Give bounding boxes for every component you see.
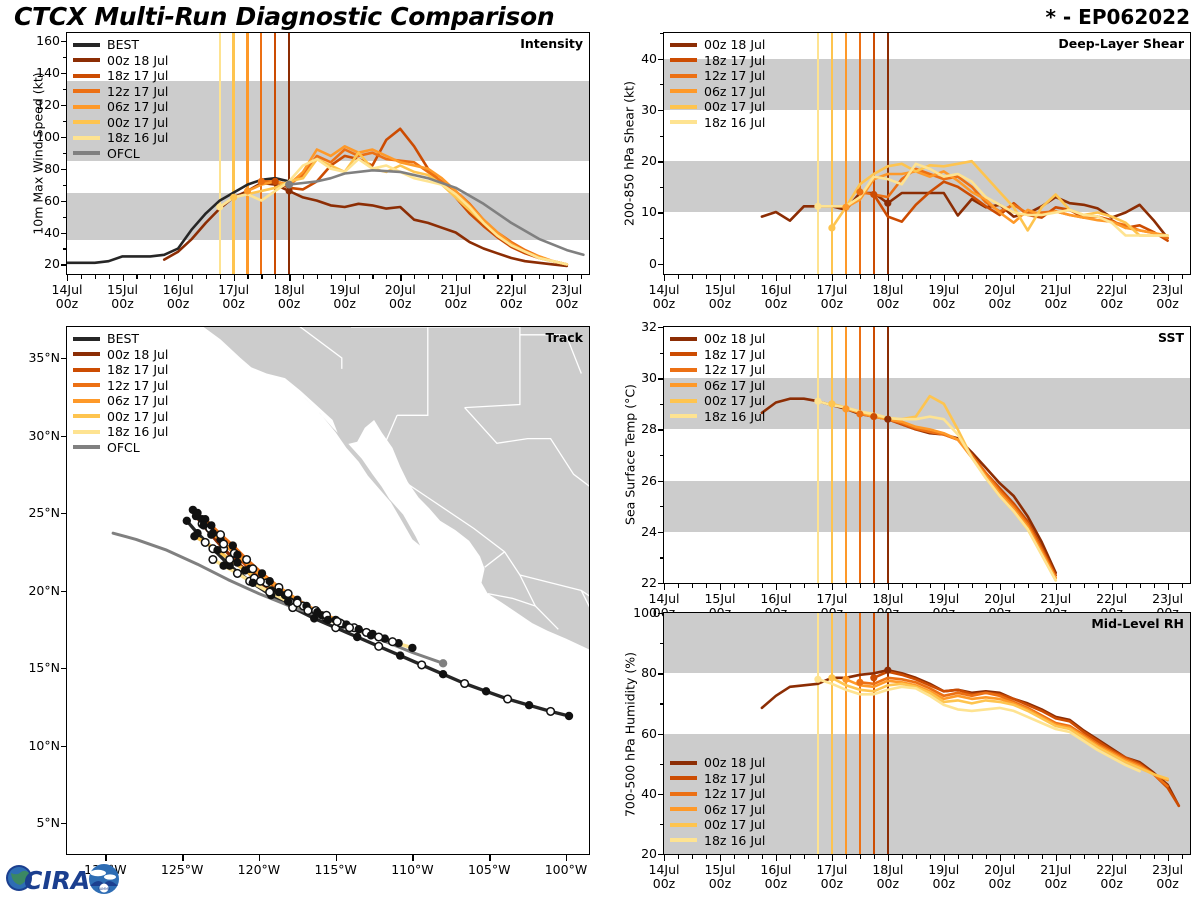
y-tick-label: 20	[613, 846, 657, 861]
x-tick-mark	[944, 855, 945, 861]
sst-panel-title: SST	[1158, 330, 1184, 345]
x-minor-tick	[1126, 855, 1127, 859]
data-series-line	[248, 146, 567, 264]
x-tick-mark	[720, 275, 721, 281]
x-tick-mark	[289, 275, 290, 281]
legend-swatch-icon	[73, 399, 100, 403]
legend-label: 12z 17 Jul	[107, 379, 168, 392]
legend-swatch-icon	[73, 445, 100, 449]
ofcl-start-marker	[439, 659, 447, 667]
legend-swatch-icon	[73, 136, 100, 140]
x-tick-label: 22Jul00z	[1082, 283, 1142, 311]
y-tick-label: 22	[613, 575, 657, 590]
x-minor-tick	[818, 584, 819, 588]
legend-entry: 18z 16 Jul	[670, 833, 765, 849]
track-point-open	[294, 599, 302, 607]
legend-entry: OFCL	[73, 440, 168, 456]
track-point-filled	[193, 509, 201, 517]
x-minor-tick	[790, 584, 791, 588]
x-minor-tick	[734, 275, 735, 279]
x-minor-tick	[1140, 584, 1141, 588]
track-y-tick-mark	[61, 823, 67, 824]
y-minor-tick	[660, 33, 664, 34]
legend-swatch-icon	[670, 74, 697, 78]
track-point-filled	[565, 712, 573, 720]
x-minor-tick	[1014, 855, 1015, 859]
y-tick-mark	[61, 73, 67, 74]
legend-entry: 12z 17 Jul	[670, 362, 765, 378]
y-tick-mark	[61, 41, 67, 42]
x-minor-tick	[1084, 275, 1085, 279]
legend-label: 00z 17 Jul	[704, 818, 765, 831]
track-point-filled	[482, 687, 490, 695]
y-tick-label: 26	[613, 473, 657, 488]
track-point-open	[266, 588, 274, 596]
track-x-tick-mark	[259, 855, 260, 861]
legend-swatch-icon	[670, 58, 697, 62]
x-minor-tick	[846, 275, 847, 279]
x-minor-tick	[1028, 584, 1029, 588]
x-minor-tick	[359, 275, 360, 279]
x-tick-mark	[400, 275, 401, 281]
x-tick-mark	[776, 275, 777, 281]
x-minor-tick	[916, 275, 917, 279]
y-tick-mark	[61, 233, 67, 234]
x-minor-tick	[1126, 275, 1127, 279]
x-minor-tick	[261, 275, 262, 279]
x-minor-tick	[692, 855, 693, 859]
x-minor-tick	[748, 855, 749, 859]
legend-label: 18z 17 Jul	[107, 69, 168, 82]
x-minor-tick	[1140, 855, 1141, 859]
x-tick-label: 15Jul00z	[93, 283, 153, 311]
x-tick-label: 23Jul00z	[537, 283, 597, 311]
legend-entry: 18z 17 Jul	[73, 362, 168, 378]
y-tick-label: 60	[16, 193, 60, 208]
y-tick-label: 100	[613, 605, 657, 620]
page-title: CTCX Multi-Run Diagnostic Comparison	[14, 2, 554, 31]
y-tick-label: 80	[613, 665, 657, 680]
init-point-marker	[814, 676, 821, 683]
x-minor-tick	[874, 855, 875, 859]
x-minor-tick	[916, 584, 917, 588]
legend-label: 18z 16 Jul	[704, 834, 765, 847]
x-tick-mark	[567, 275, 568, 281]
legend-label: 18z 17 Jul	[704, 772, 765, 785]
x-minor-tick	[1042, 584, 1043, 588]
x-tick-label: 22Jul00z	[1082, 863, 1142, 891]
y-tick-label: 30	[613, 370, 657, 385]
x-tick-label: 16Jul00z	[746, 863, 806, 891]
x-minor-tick	[804, 855, 805, 859]
track-point-filled	[233, 558, 241, 566]
x-minor-tick	[874, 584, 875, 588]
track-y-tick-mark	[61, 436, 67, 437]
track-x-tick-mark	[182, 855, 183, 861]
y-tick-label: 140	[16, 65, 60, 80]
legend-entry: 18z 17 Jul	[73, 68, 168, 84]
x-tick-mark	[511, 275, 512, 281]
x-minor-tick	[1126, 584, 1127, 588]
track-point-filled	[266, 577, 274, 585]
x-minor-tick	[790, 275, 791, 279]
x-tick-label: 19Jul00z	[315, 283, 375, 311]
x-tick-label: 17Jul00z	[802, 863, 862, 891]
x-tick-label: 23Jul00z	[1138, 283, 1198, 311]
cira-logo-graphic: CIRA RAMMB	[4, 858, 126, 898]
x-tick-mark	[1000, 275, 1001, 281]
legend-entry: 06z 17 Jul	[670, 378, 765, 394]
x-minor-tick	[678, 275, 679, 279]
legend-entry: 18z 17 Jul	[670, 347, 765, 363]
x-tick-mark	[832, 275, 833, 281]
x-minor-tick	[331, 275, 332, 279]
x-minor-tick	[1182, 275, 1183, 279]
legend-swatch-icon	[73, 352, 100, 356]
intensity-y-axis-label: 10m Max Wind Speed (kt)	[31, 54, 46, 254]
track-y-tick-label: 25°N	[8, 505, 60, 520]
init-point-marker	[814, 203, 821, 210]
track-point-filled	[209, 529, 217, 537]
y-tick-label: 32	[613, 319, 657, 334]
track-point-filled	[284, 597, 292, 605]
x-minor-tick	[692, 275, 693, 279]
track-y-tick-label: 30°N	[8, 428, 60, 443]
legend-swatch-icon	[73, 43, 100, 47]
x-tick-mark	[664, 275, 665, 281]
track-x-tick-mark	[489, 855, 490, 861]
x-minor-tick	[902, 855, 903, 859]
x-tick-mark	[456, 275, 457, 281]
x-minor-tick	[818, 275, 819, 279]
y-minor-tick	[63, 153, 67, 154]
track-point-filled	[324, 616, 332, 624]
legend-swatch-icon	[73, 337, 100, 341]
x-tick-label: 14Jul00z	[37, 283, 97, 311]
svg-text:RAMMB: RAMMB	[98, 887, 111, 891]
legend-entry: 12z 17 Jul	[73, 378, 168, 394]
x-minor-tick	[428, 275, 429, 279]
ofcl-start-marker	[285, 181, 293, 189]
x-minor-tick	[902, 275, 903, 279]
x-tick-mark	[1112, 584, 1113, 590]
y-tick-mark	[658, 532, 664, 533]
init-point-marker	[244, 187, 251, 194]
legend-label: 00z 17 Jul	[107, 410, 168, 423]
x-minor-tick	[150, 275, 151, 279]
y-tick-mark	[658, 59, 664, 60]
x-minor-tick	[986, 855, 987, 859]
y-tick-mark	[658, 794, 664, 795]
init-point-marker	[842, 676, 849, 683]
track-point-filled	[233, 551, 241, 559]
legend-label: 00z 18 Jul	[107, 54, 168, 67]
track-point-filled	[275, 588, 283, 596]
x-tick-mark	[1056, 275, 1057, 281]
legend-entry: 00z 18 Jul	[670, 37, 765, 53]
legend-swatch-icon	[73, 105, 100, 109]
legend-swatch-icon	[73, 89, 100, 93]
legend-label: 12z 17 Jul	[704, 69, 765, 82]
legend-swatch-icon	[670, 120, 697, 124]
x-minor-tick	[497, 275, 498, 279]
y-minor-tick	[63, 121, 67, 122]
x-minor-tick	[692, 584, 693, 588]
intensity-legend: BEST00z 18 Jul18z 17 Jul12z 17 Jul06z 17…	[73, 37, 168, 161]
x-minor-tick	[1154, 584, 1155, 588]
track-y-tick-mark	[61, 668, 67, 669]
x-minor-tick	[748, 275, 749, 279]
track-x-tick-label: 120°W	[224, 863, 294, 877]
x-minor-tick	[972, 855, 973, 859]
x-minor-tick	[1084, 584, 1085, 588]
data-series-line	[818, 401, 1056, 580]
y-tick-label: 40	[613, 51, 657, 66]
init-point-marker	[272, 178, 279, 185]
y-tick-label: 24	[613, 524, 657, 539]
x-minor-tick	[1042, 855, 1043, 859]
legend-swatch-icon	[73, 120, 100, 124]
track-point-filled	[219, 562, 227, 570]
y-tick-mark	[658, 613, 664, 614]
y-tick-mark	[658, 327, 664, 328]
y-tick-label: 120	[16, 97, 60, 112]
data-series-line	[762, 670, 1179, 806]
y-tick-label: 40	[613, 786, 657, 801]
track-panel-title: Track	[546, 330, 583, 345]
x-minor-tick	[762, 584, 763, 588]
data-series-line	[846, 679, 1168, 780]
x-minor-tick	[986, 275, 987, 279]
x-tick-mark	[776, 855, 777, 861]
x-tick-label: 17Jul00z	[802, 283, 862, 311]
init-point-marker	[884, 200, 891, 207]
y-minor-tick	[660, 824, 664, 825]
x-minor-tick	[1028, 275, 1029, 279]
track-point-open	[201, 539, 209, 547]
y-tick-mark	[658, 429, 664, 430]
legend-label: BEST	[107, 332, 139, 345]
track-point-filled	[229, 541, 237, 549]
legend-label: OFCL	[107, 441, 140, 454]
track-point-open	[418, 661, 426, 669]
y-tick-mark	[61, 169, 67, 170]
data-series-line	[860, 678, 1168, 786]
y-tick-label: 20	[16, 256, 60, 271]
track-point-filled	[525, 701, 533, 709]
track-point-filled	[199, 521, 207, 529]
x-minor-tick	[860, 584, 861, 588]
x-minor-tick	[164, 275, 165, 279]
x-minor-tick	[972, 275, 973, 279]
legend-entry: BEST	[73, 37, 168, 53]
x-minor-tick	[247, 275, 248, 279]
y-minor-tick	[660, 506, 664, 507]
x-minor-tick	[706, 584, 707, 588]
y-minor-tick	[660, 643, 664, 644]
track-point-open	[234, 570, 242, 578]
x-minor-tick	[958, 275, 959, 279]
track-point-filled	[183, 517, 191, 525]
x-minor-tick	[930, 584, 931, 588]
x-tick-label: 15Jul00z	[690, 863, 750, 891]
x-tick-label: 21Jul00z	[426, 283, 486, 311]
x-tick-label: 18Jul00z	[858, 283, 918, 311]
x-minor-tick	[1182, 855, 1183, 859]
y-tick-label: 0	[613, 256, 657, 271]
legend-entry: 06z 17 Jul	[670, 802, 765, 818]
legend-swatch-icon	[670, 352, 697, 356]
sst-legend: 00z 18 Jul18z 17 Jul12z 17 Jul06z 17 Jul…	[670, 331, 765, 424]
track-x-tick-label: 125°W	[147, 863, 217, 877]
x-tick-mark	[1168, 584, 1169, 590]
y-tick-mark	[658, 481, 664, 482]
init-point-marker	[870, 191, 877, 198]
y-minor-tick	[63, 248, 67, 249]
x-minor-tick	[678, 584, 679, 588]
x-minor-tick	[136, 275, 137, 279]
track-point-open	[304, 607, 312, 615]
x-minor-tick	[1098, 855, 1099, 859]
x-tick-label: 19Jul00z	[914, 283, 974, 311]
y-tick-mark	[658, 212, 664, 213]
x-tick-label: 17Jul00z	[204, 283, 264, 311]
x-minor-tick	[874, 275, 875, 279]
legend-swatch-icon	[73, 58, 100, 62]
track-x-tick-mark	[412, 855, 413, 861]
x-tick-mark	[234, 275, 235, 281]
legend-entry: 18z 16 Jul	[670, 115, 765, 131]
x-minor-tick	[958, 855, 959, 859]
legend-swatch-icon	[670, 368, 697, 372]
track-point-open	[257, 577, 265, 585]
x-tick-mark	[1112, 275, 1113, 281]
x-tick-mark	[1168, 855, 1169, 861]
track-x-tick-label: 105°W	[454, 863, 524, 877]
data-series-line	[164, 183, 567, 266]
legend-swatch-icon	[670, 105, 697, 109]
x-minor-tick	[192, 275, 193, 279]
rh-legend: 00z 18 Jul18z 17 Jul12z 17 Jul06z 17 Jul…	[670, 755, 765, 848]
x-minor-tick	[734, 855, 735, 859]
x-minor-tick	[372, 275, 373, 279]
x-tick-mark	[776, 584, 777, 590]
init-point-marker	[856, 679, 863, 686]
x-tick-label: 23Jul00z	[1138, 863, 1198, 891]
y-minor-tick	[660, 764, 664, 765]
x-minor-tick	[275, 275, 276, 279]
legend-entry: BEST	[73, 331, 168, 347]
x-minor-tick	[317, 275, 318, 279]
x-minor-tick	[762, 275, 763, 279]
legend-label: 18z 16 Jul	[107, 425, 168, 438]
legend-entry: 18z 16 Jul	[73, 130, 168, 146]
legend-label: 06z 17 Jul	[107, 394, 168, 407]
y-tick-mark	[61, 264, 67, 265]
init-point-marker	[884, 667, 891, 674]
track-point-filled	[353, 633, 361, 641]
legend-label: 06z 17 Jul	[704, 85, 765, 98]
init-point-marker	[856, 188, 863, 195]
legend-swatch-icon	[670, 383, 697, 387]
legend-swatch-icon	[670, 792, 697, 796]
x-minor-tick	[804, 275, 805, 279]
x-tick-mark	[1056, 855, 1057, 861]
y-minor-tick	[63, 89, 67, 90]
legend-entry: 00z 18 Jul	[73, 53, 168, 69]
legend-label: 18z 16 Jul	[107, 131, 168, 144]
init-point-marker	[230, 194, 237, 201]
x-minor-tick	[958, 584, 959, 588]
track-point-filled	[313, 608, 321, 616]
x-tick-label: 16Jul00z	[148, 283, 208, 311]
x-minor-tick	[706, 275, 707, 279]
x-minor-tick	[525, 275, 526, 279]
legend-swatch-icon	[670, 414, 697, 418]
track-y-tick-mark	[61, 746, 67, 747]
x-minor-tick	[1070, 855, 1071, 859]
legend-entry: 00z 17 Jul	[670, 817, 765, 833]
data-series-line	[818, 164, 1168, 236]
track-x-tick-mark	[336, 855, 337, 861]
legend-entry: 18z 16 Jul	[670, 409, 765, 425]
rh-panel-title: Mid-Level RH	[1091, 616, 1184, 631]
legend-label: 18z 17 Jul	[704, 54, 765, 67]
y-minor-tick	[660, 455, 664, 456]
init-point-marker	[828, 674, 835, 681]
x-minor-tick	[1028, 855, 1029, 859]
legend-swatch-icon	[73, 151, 100, 155]
track-point-open	[209, 556, 217, 564]
track-point-open	[461, 680, 469, 688]
track-point-open	[226, 556, 234, 564]
x-tick-label: 20Jul00z	[970, 863, 1030, 891]
cira-logo: CIRA RAMMB	[4, 858, 126, 898]
x-tick-mark	[1168, 275, 1169, 281]
x-tick-label: 14Jul00z	[634, 283, 694, 311]
track-point-open	[220, 540, 228, 548]
x-minor-tick	[95, 275, 96, 279]
track-x-tick-label: 100°W	[531, 863, 601, 877]
legend-swatch-icon	[73, 383, 100, 387]
init-point-marker	[216, 203, 223, 210]
legend-label: 12z 17 Jul	[704, 787, 765, 800]
legend-swatch-icon	[670, 43, 697, 47]
y-minor-tick	[660, 136, 664, 137]
init-point-marker	[258, 178, 265, 185]
legend-label: 06z 17 Jul	[704, 379, 765, 392]
x-minor-tick	[81, 275, 82, 279]
legend-label: 06z 17 Jul	[704, 803, 765, 816]
x-minor-tick	[1070, 584, 1071, 588]
y-minor-tick	[63, 217, 67, 218]
init-point-marker	[842, 405, 849, 412]
y-minor-tick	[63, 185, 67, 186]
x-minor-tick	[734, 584, 735, 588]
x-minor-tick	[470, 275, 471, 279]
x-tick-mark	[832, 584, 833, 590]
x-minor-tick	[706, 855, 707, 859]
legend-label: 00z 18 Jul	[704, 38, 765, 51]
legend-label: 06z 17 Jul	[107, 100, 168, 113]
x-minor-tick	[1154, 275, 1155, 279]
legend-label: 00z 17 Jul	[704, 394, 765, 407]
track-point-filled	[207, 521, 215, 529]
sst-panel: SST 00z 18 Jul18z 17 Jul12z 17 Jul06z 17…	[663, 326, 1191, 584]
x-minor-tick	[1070, 275, 1071, 279]
legend-label: 00z 18 Jul	[704, 756, 765, 769]
legend-entry: 06z 17 Jul	[73, 393, 168, 409]
